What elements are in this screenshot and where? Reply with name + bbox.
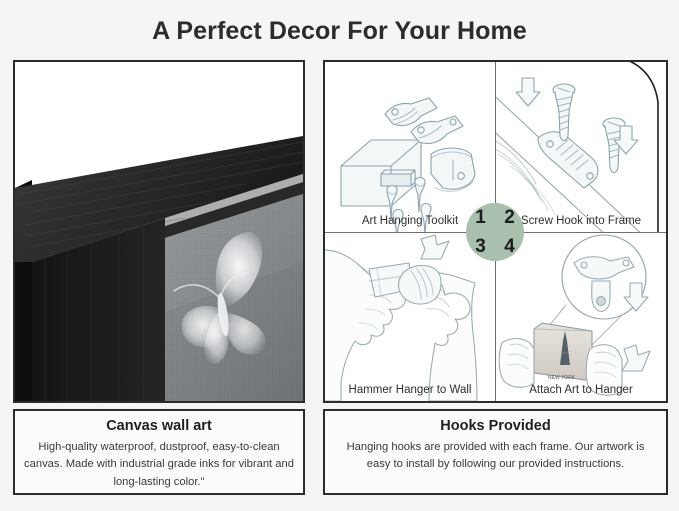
step-number-3: 3 <box>466 232 495 261</box>
product-photo-panel <box>13 60 305 403</box>
step-4-label: Attach Art to Hanger <box>496 384 666 396</box>
step-number-4: 4 <box>495 232 524 261</box>
step-number-1: 1 <box>466 203 495 232</box>
canvas-frame-photo <box>15 62 303 401</box>
left-caption-box: Canvas wall art High-quality waterproof,… <box>13 409 305 495</box>
product-infographic: A Perfect Decor For Your Home <box>0 0 679 511</box>
step-number-badge: 1 2 3 4 <box>466 203 524 261</box>
svg-text:NEW YORK: NEW YORK <box>548 375 576 381</box>
instructions-panel: Art Hanging Toolkit <box>323 60 668 403</box>
page-title: A Perfect Decor For Your Home <box>0 17 679 46</box>
right-caption-body: Hanging hooks are provided with each fra… <box>325 439 666 474</box>
left-caption-title: Canvas wall art <box>15 418 303 434</box>
hammer-arrow-icon <box>421 235 449 259</box>
right-caption-box: Hooks Provided Hanging hooks are provide… <box>323 409 668 495</box>
right-caption-title: Hooks Provided <box>325 418 666 434</box>
step-number-2: 2 <box>495 203 524 232</box>
left-caption-body: High-quality waterproof, dustproof, easy… <box>15 439 303 491</box>
down-arrow-icon <box>622 345 650 371</box>
instruction-grid: Art Hanging Toolkit <box>325 62 666 401</box>
step-3-label: Hammer Hanger to Wall <box>325 384 495 396</box>
down-arrow-icon <box>516 78 540 106</box>
